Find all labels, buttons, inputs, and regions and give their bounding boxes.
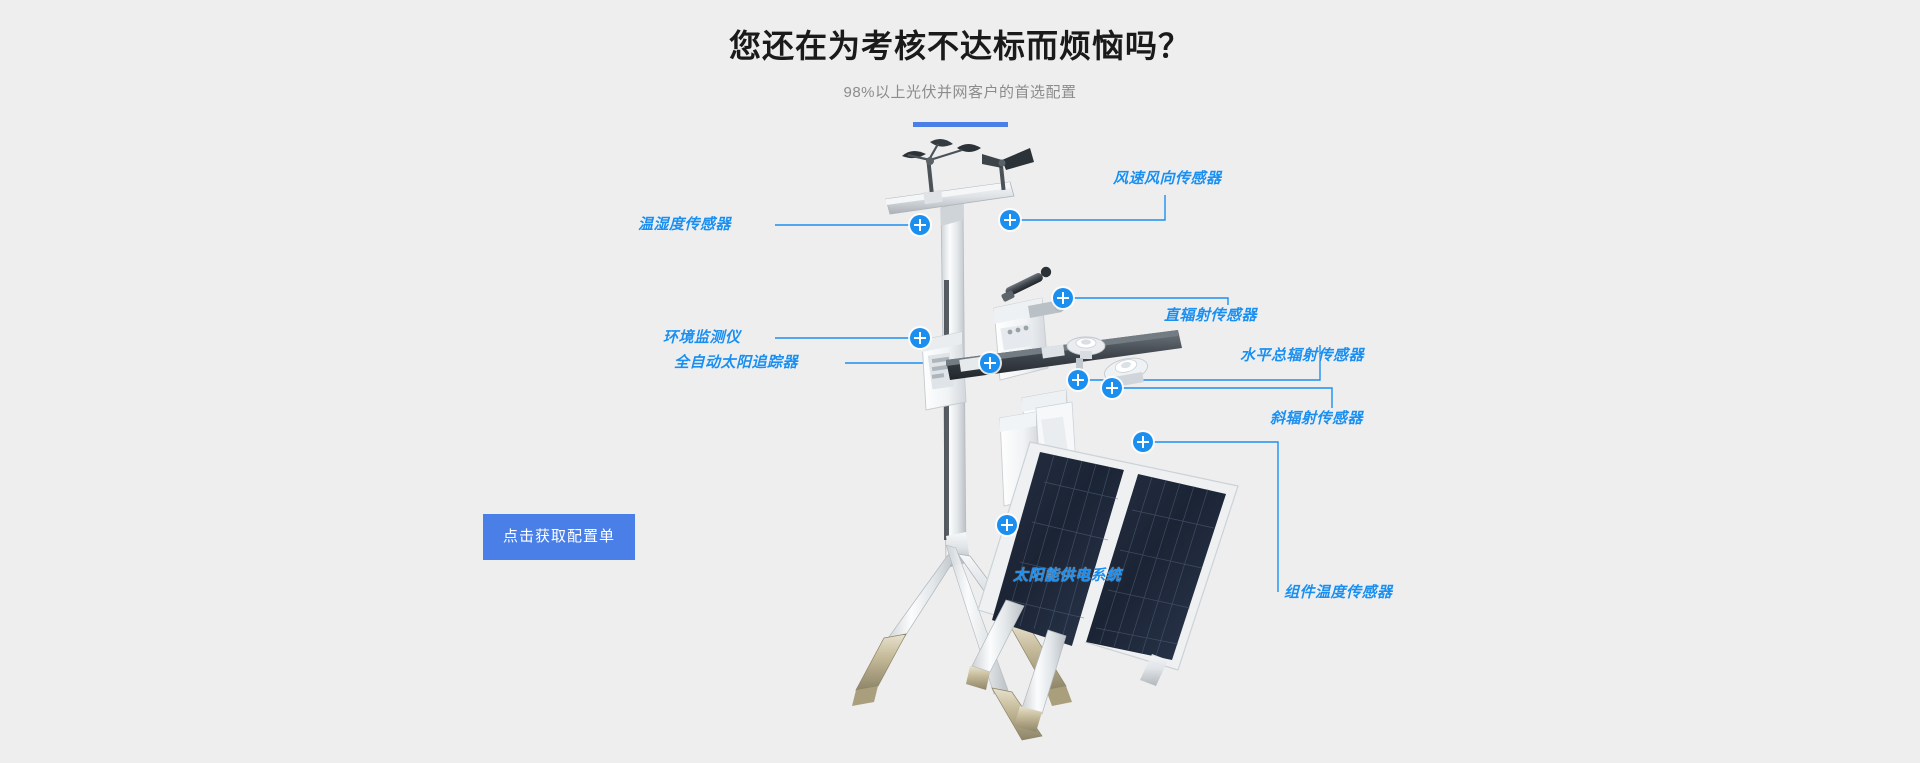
marker-temperature-humidity-sensor[interactable] xyxy=(910,215,930,235)
title-underline-rule xyxy=(913,122,1008,127)
callout-module-temperature-sensor[interactable]: 组件温度传感器 xyxy=(1284,583,1393,603)
marker-environment-monitor[interactable] xyxy=(910,328,930,348)
diagram-illustration xyxy=(0,130,1920,763)
page-title: 您还在为考核不达标而烦恼吗？ xyxy=(0,0,1920,66)
callout-wind-speed-direction-sensor[interactable]: 风速风向传感器 xyxy=(1113,169,1222,189)
callout-direct-radiation-sensor[interactable]: 直辐射传感器 xyxy=(1164,306,1257,326)
page-header: 您还在为考核不达标而烦恼吗？ 98%以上光伏并网客户的首选配置 xyxy=(0,0,1920,127)
page-subtitle: 98%以上光伏并网客户的首选配置 xyxy=(0,66,1920,104)
callout-environment-monitor[interactable]: 环境监测仪 xyxy=(663,328,741,348)
marker-tilted-radiation-sensor[interactable] xyxy=(1102,378,1122,398)
callout-temperature-humidity-sensor[interactable]: 温湿度传感器 xyxy=(638,215,731,235)
marker-solar-power-supply-system[interactable] xyxy=(997,515,1017,535)
callout-auto-solar-tracker[interactable]: 全自动太阳追踪器 xyxy=(674,353,798,373)
callout-solar-power-supply-system[interactable]: 太阳能供电系统 xyxy=(1013,566,1122,586)
equipment-diagram: 风速风向传感器 温湿度传感器 直辐射传感器 水平总辐射传感器 环境监测仪 斜辐射… xyxy=(0,130,1920,763)
callout-tilted-radiation-sensor[interactable]: 斜辐射传感器 xyxy=(1270,409,1363,429)
page-root: 您还在为考核不达标而烦恼吗？ 98%以上光伏并网客户的首选配置 xyxy=(0,0,1920,763)
marker-horizontal-total-radiation-sensor[interactable] xyxy=(1068,370,1088,390)
callout-horizontal-total-radiation-sensor[interactable]: 水平总辐射传感器 xyxy=(1240,346,1364,366)
marker-direct-radiation-sensor[interactable] xyxy=(1053,288,1073,308)
marker-module-temperature-sensor[interactable] xyxy=(1133,432,1153,452)
get-configuration-list-button[interactable]: 点击获取配置单 xyxy=(483,514,635,560)
marker-wind-speed-direction-sensor[interactable] xyxy=(1000,210,1020,230)
marker-auto-solar-tracker[interactable] xyxy=(980,353,1000,373)
